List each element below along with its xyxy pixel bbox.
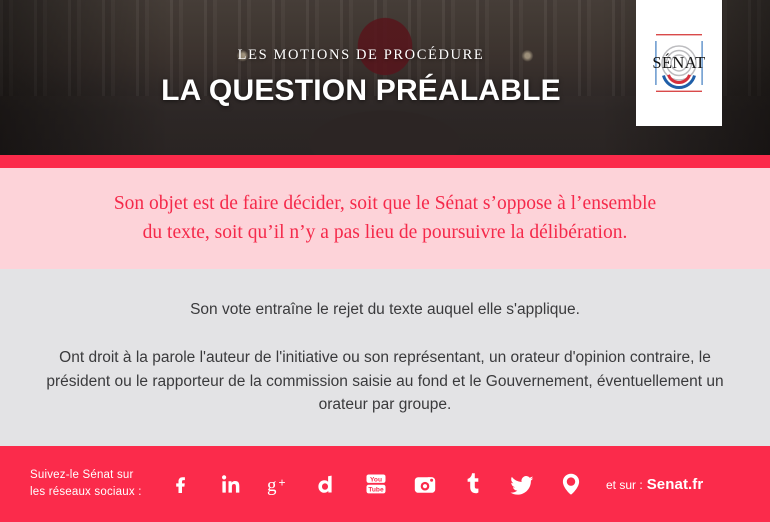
- hero-eyebrow: LES MOTIONS DE PROCÉDURE: [238, 47, 485, 64]
- follow-label: Suivez-le Sénat sur les réseaux sociaux …: [30, 467, 162, 502]
- body-band: Son vote entraîne le rejet du texte auqu…: [0, 269, 770, 446]
- youtube-icon[interactable]: You Tube: [361, 469, 391, 499]
- body-paragraph-1: Son vote entraîne le rejet du texte auqu…: [190, 298, 580, 322]
- page-title: LA QUESTION PRÉALABLE: [161, 74, 561, 108]
- svg-text:+: +: [278, 476, 285, 490]
- infographic-root: LES MOTIONS DE PROCÉDURE LA QUESTION PRÉ…: [0, 0, 770, 522]
- instagram-icon[interactable]: [410, 469, 440, 499]
- googleplus-icon[interactable]: g+: [264, 469, 294, 499]
- svg-text:SÉNAT: SÉNAT: [652, 53, 705, 72]
- svg-text:Tube: Tube: [368, 486, 384, 493]
- svg-text:g: g: [267, 475, 277, 496]
- dailymotion-icon[interactable]: [312, 469, 342, 499]
- follow-label-line-2: les réseaux sociaux :: [30, 484, 162, 501]
- svg-text:You: You: [370, 476, 382, 483]
- periscope-icon[interactable]: [556, 469, 586, 499]
- follow-label-line-1: Suivez-le Sénat sur: [30, 467, 162, 484]
- facebook-icon[interactable]: [166, 469, 196, 499]
- footer-site-prefix: et sur :: [606, 478, 643, 492]
- body-paragraph-2: Ont droit à la parole l'auteur de l'init…: [40, 346, 730, 417]
- highlight-band: Son objet est de faire décider, soit que…: [0, 168, 770, 269]
- highlight-text: Son objet est de faire décider, soit que…: [114, 190, 656, 247]
- social-links: g+ You Tube: [162, 469, 596, 499]
- hero-banner: LES MOTIONS DE PROCÉDURE LA QUESTION PRÉ…: [0, 0, 770, 155]
- tumblr-icon[interactable]: [459, 469, 489, 499]
- footer-website[interactable]: et sur : Senat.fr: [606, 476, 703, 493]
- senat-logo-mark: SÉNAT: [649, 30, 709, 96]
- senat-logo: SÉNAT: [636, 0, 722, 126]
- twitter-icon[interactable]: [507, 469, 537, 499]
- footer-social-bar: Suivez-le Sénat sur les réseaux sociaux …: [0, 446, 770, 522]
- accent-bar: [0, 155, 770, 168]
- linkedin-icon[interactable]: [215, 469, 245, 499]
- highlight-line-2: du texte, soit qu’il n’y a pas lieu de p…: [143, 222, 628, 243]
- highlight-line-1: Son objet est de faire décider, soit que…: [114, 193, 656, 214]
- footer-site-name: Senat.fr: [647, 476, 704, 493]
